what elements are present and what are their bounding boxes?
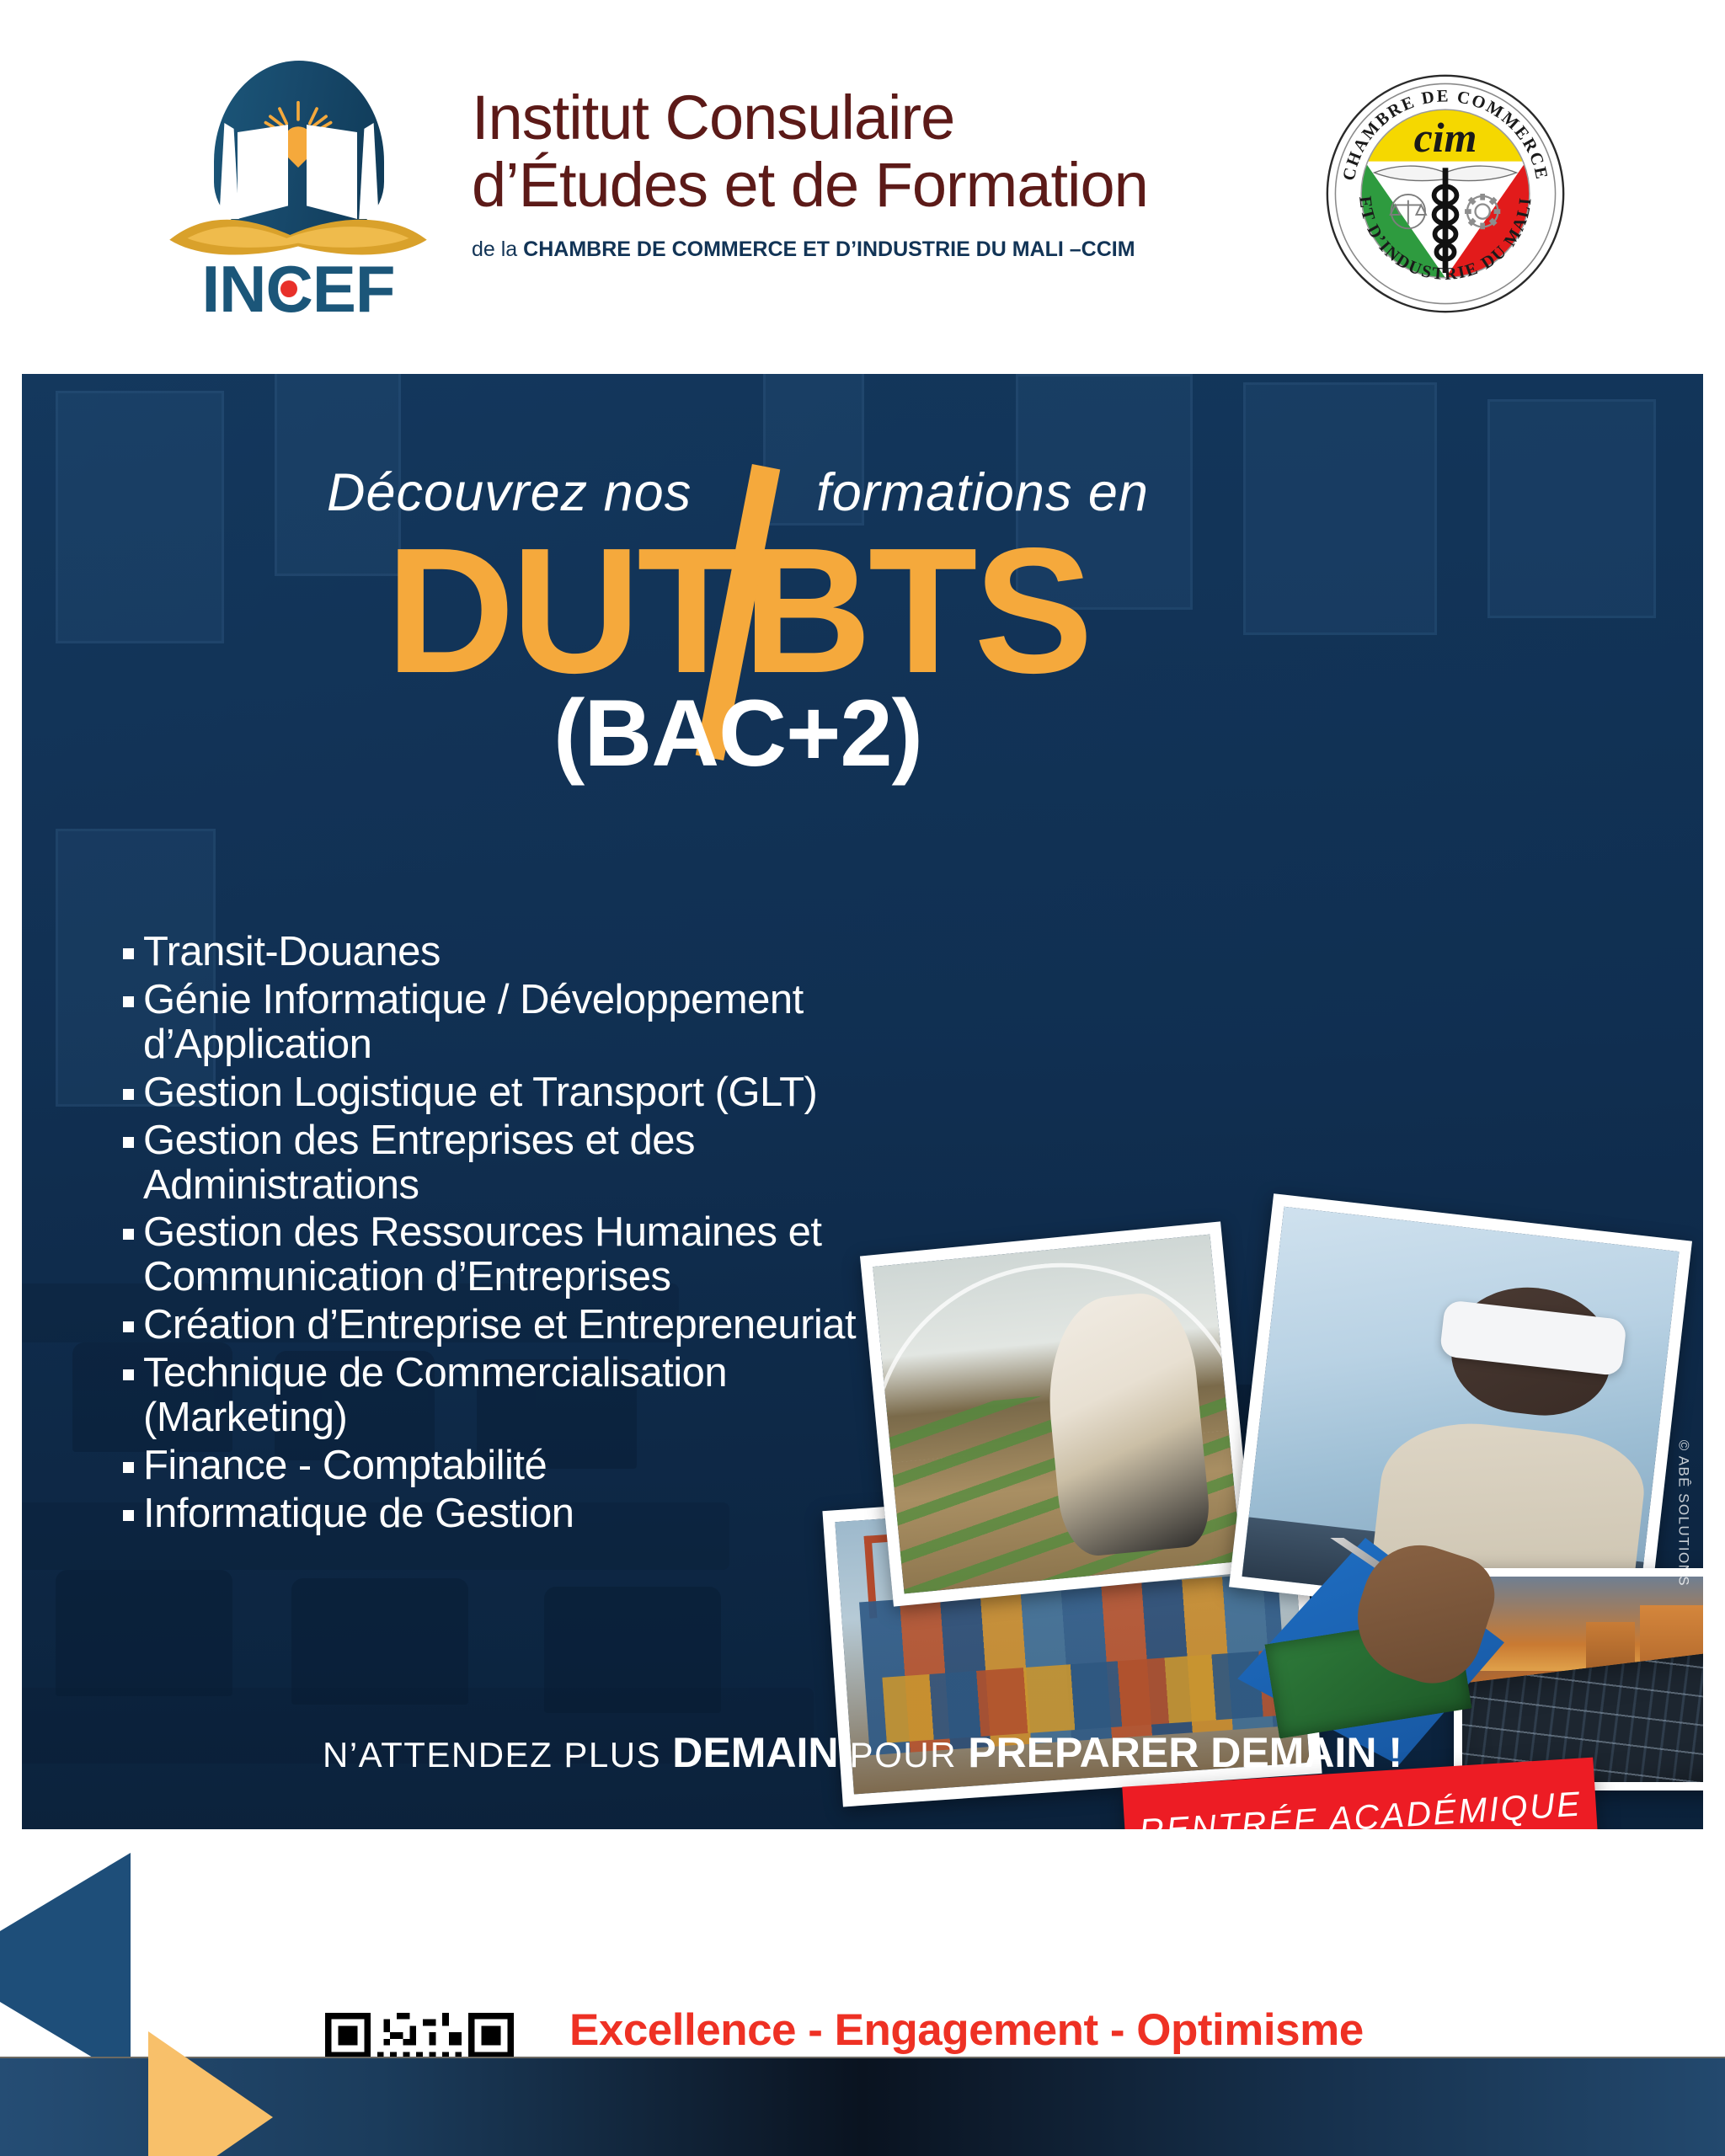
triangle-right-icon	[148, 2031, 273, 2156]
subtitle-prefix: de la	[472, 237, 523, 261]
poster-footer: Excellence - Engagement - Optimisme INCE…	[0, 1829, 1725, 2156]
incef-logo: INCEF	[165, 61, 431, 330]
poster-header: INCEF Institut Consulaire d’Études et de…	[0, 0, 1725, 364]
bullet-square-icon	[123, 996, 134, 1007]
bullet-square-icon	[123, 1137, 134, 1148]
program-label: Informatique de Gestion	[143, 1492, 881, 1536]
program-label: Gestion des Entreprises et des Administr…	[143, 1118, 881, 1208]
tagline-part3: POUR	[839, 1735, 969, 1774]
tagline-part1: N’ATTENDEZ PLUS	[323, 1735, 672, 1774]
subtitle-bold: CHAMBRE DE COMMERCE ET D’INDUSTRIE DU MA…	[523, 237, 1135, 261]
caduceus-mali-flag-seal-icon: cim CHAMBRE DE COMMERCE ET D’INDUSTRIE D…	[1324, 72, 1567, 315]
book-page-right	[307, 125, 357, 219]
open-book-sunrise-hands-crest-icon	[165, 61, 431, 256]
hero-tagline: N’ATTENDEZ PLUS DEMAIN POUR PREPARER DEM…	[22, 1728, 1703, 1777]
program-label: Gestion Logistique et Transport (GLT)	[143, 1070, 881, 1115]
bullet-square-icon	[123, 1229, 134, 1240]
institute-title-line2: d’Études et de Formation	[472, 152, 1297, 219]
rentree-label: RENTRÉE ACADÉMIQUE	[1138, 1786, 1583, 1829]
photo-collage	[873, 1216, 1703, 1789]
agriculture-greenhouse-photo	[860, 1221, 1254, 1606]
list-item[interactable]: Transit-Douanes	[123, 930, 881, 974]
institute-title-line1: Institut Consulaire	[472, 84, 1297, 152]
bullet-square-icon	[123, 1510, 134, 1521]
hero-panel: Découvrez nos formations en DUTBTS (BAC+…	[22, 374, 1703, 1829]
list-item[interactable]: Technique de Commercialisation (Marketin…	[123, 1351, 881, 1440]
hero-headline: Découvrez nos formations en DUTBTS (BAC+…	[22, 467, 1454, 781]
bullet-square-icon	[123, 1462, 134, 1473]
program-label: Gestion des Ressources Humaines et Commu…	[143, 1210, 881, 1299]
program-list: Transit-Douanes Génie Informatique / Dév…	[123, 930, 881, 1540]
list-item[interactable]: Gestion des Ressources Humaines et Commu…	[123, 1210, 881, 1299]
tagline-part4: PREPARER DEMAIN !	[968, 1729, 1402, 1776]
program-label: Génie Informatique / Développement d’App…	[143, 978, 881, 1067]
program-label: Transit-Douanes	[143, 930, 881, 974]
poster-root: INCEF Institut Consulaire d’Études et de…	[0, 0, 1725, 2156]
tagline-part2: DEMAIN	[672, 1729, 838, 1776]
program-label: Technique de Commercialisation (Marketin…	[143, 1351, 881, 1440]
book-page-left	[238, 125, 288, 219]
footer-slogan: Excellence - Engagement - Optimisme	[569, 2008, 1690, 2052]
design-credit: © ABÊ SOLUTIONS	[1674, 1440, 1691, 1587]
list-item[interactable]: Informatique de Gestion	[123, 1492, 881, 1536]
ccim-monogram: cim	[1414, 115, 1477, 161]
incef-wordmark: INCEF	[165, 256, 431, 322]
bullet-square-icon	[123, 1089, 134, 1100]
list-item[interactable]: Finance - Comptabilité	[123, 1444, 881, 1488]
list-item[interactable]: Gestion des Entreprises et des Administr…	[123, 1118, 881, 1208]
triangle-left-icon	[0, 1853, 131, 2080]
program-label: Finance - Comptabilité	[143, 1444, 881, 1488]
institute-subtitle: de la CHAMBRE DE COMMERCE ET D’INDUSTRIE…	[472, 237, 1297, 262]
header-title-block: Institut Consulaire d’Études et de Forma…	[472, 84, 1297, 262]
list-item[interactable]: Génie Informatique / Développement d’App…	[123, 978, 881, 1067]
list-item[interactable]: Gestion Logistique et Transport (GLT)	[123, 1070, 881, 1115]
list-item[interactable]: Création d’Entreprise et Entrepreneuriat	[123, 1303, 881, 1347]
program-label: Création d’Entreprise et Entrepreneuriat	[143, 1303, 881, 1347]
hero-title: DUTBTS	[22, 525, 1454, 696]
bullet-square-icon	[123, 1321, 134, 1332]
hero-subtitle: (BAC+2)	[22, 686, 1454, 781]
bullet-square-icon	[123, 1369, 134, 1380]
bullet-square-icon	[123, 948, 134, 959]
